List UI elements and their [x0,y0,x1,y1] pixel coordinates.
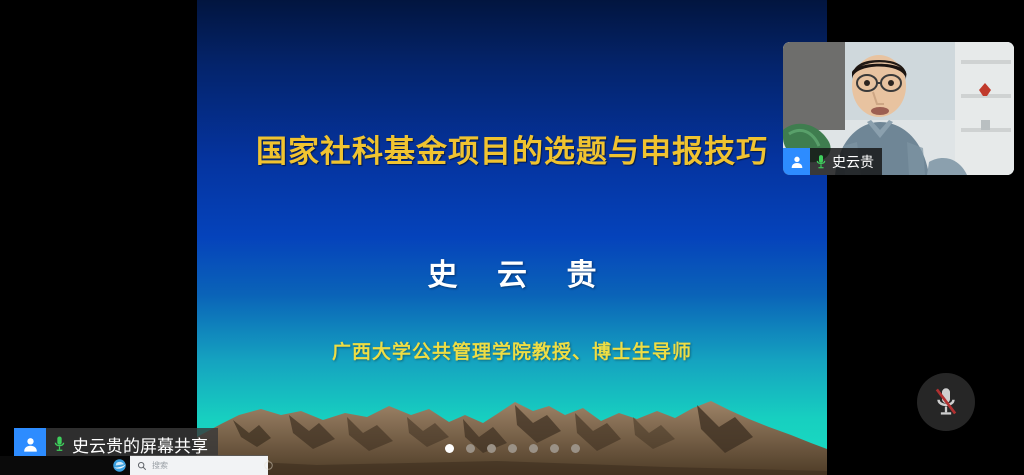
slide-pager-dots[interactable] [197,444,827,453]
slide-title: 国家社科基金项目的选题与申报技巧 [197,126,827,171]
microphone-on-icon [810,154,832,170]
participant-video-tile[interactable]: 史云贵 [783,42,1014,175]
internet-explorer-icon[interactable] [112,458,127,473]
pager-dot-1[interactable] [445,444,454,453]
search-icon [137,461,147,471]
microphone-on-icon [46,435,72,453]
screen-root: 国家社科基金项目的选题与申报技巧 史 云 贵 广西大学公共管理学院教授、博士生导… [0,0,1024,475]
slide-affiliation: 广西大学公共管理学院教授、博士生导师 [197,337,827,364]
screen-share-label: 史云贵的屏幕共享 [72,432,218,457]
tray-status-icon[interactable] [262,459,275,472]
slide-presenter-name: 史 云 贵 [197,250,827,294]
taskbar-search-box[interactable]: 搜索 [130,456,268,475]
participant-name-badge: 史云贵 [783,148,882,175]
pager-dot-2[interactable] [466,444,475,453]
shared-screen-slide[interactable]: 国家社科基金项目的选题与申报技巧 史 云 贵 广西大学公共管理学院教授、博士生导… [197,0,827,475]
microphone-muted-icon [931,386,961,418]
taskbar-search-placeholder: 搜索 [152,460,168,471]
mute-microphone-button[interactable] [917,373,975,431]
pager-dot-6[interactable] [550,444,559,453]
person-avatar-icon [783,148,810,175]
mountain-silhouette-graphic [197,375,827,475]
participant-name-label: 史云贵 [832,152,882,172]
pager-dot-3[interactable] [487,444,496,453]
pager-dot-4[interactable] [508,444,517,453]
pager-dot-7[interactable] [571,444,580,453]
pager-dot-5[interactable] [529,444,538,453]
